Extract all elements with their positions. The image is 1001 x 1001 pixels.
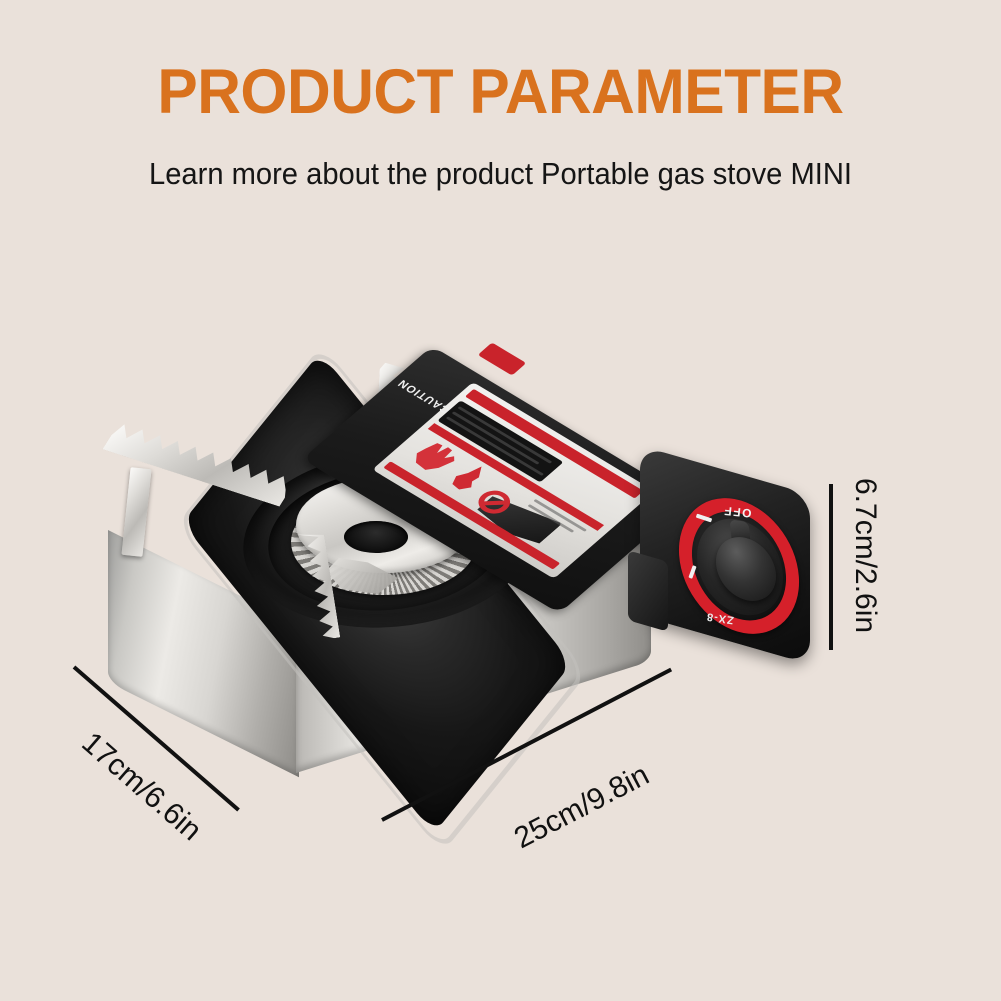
dimension-label-height: 6.7cm/2.6in	[848, 478, 882, 633]
knob-off-label: OFF	[722, 504, 752, 521]
pot-support-left-leg	[121, 467, 151, 557]
flame-warning-icon	[446, 460, 493, 495]
burner-cap-hole	[344, 521, 408, 553]
dimension-line-height	[829, 484, 833, 650]
dimension-label-depth: 17cm/6.6in	[75, 726, 208, 848]
product-image: CAUTION OFF ZX-8 17cm/6.6in 25cm/9.8in 6…	[0, 0, 1001, 1001]
lid-latch[interactable]	[628, 550, 668, 631]
warning-text-line	[452, 411, 540, 464]
dimension-label-width: 25cm/9.8in	[509, 758, 655, 856]
warning-label-red-tab	[478, 342, 527, 375]
